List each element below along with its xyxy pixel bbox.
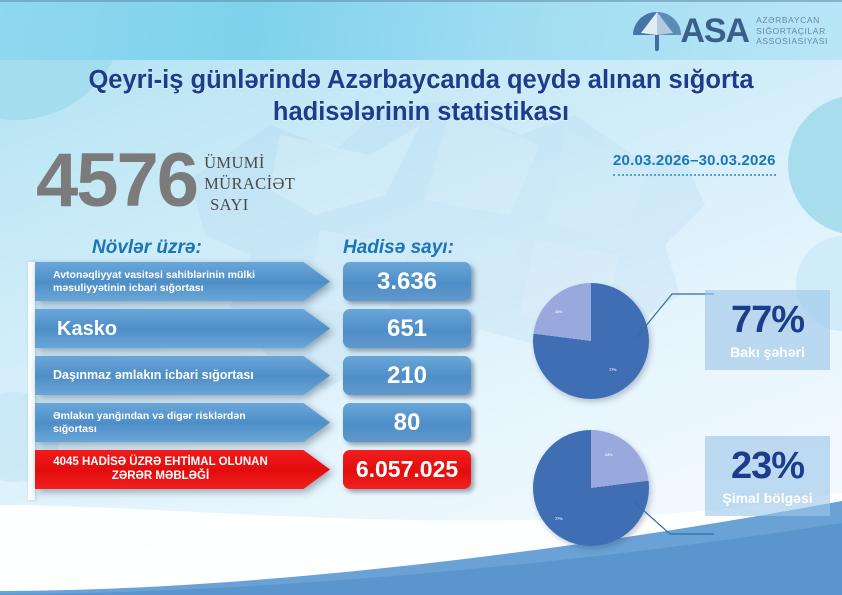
bar-value: 210	[343, 356, 471, 395]
bar-row: Daşınmaz əmlakın icbari sığortası210	[35, 356, 515, 401]
bar-label: 4045 HADİSƏ ÜZRƏ EHTİMAL OLUNAN ZƏRƏR MƏ…	[35, 456, 300, 484]
pie-slice-label-light: 23%	[605, 452, 612, 457]
pie-slice-label-dark: 77%	[555, 516, 562, 521]
total-label-line-1: ÜMUMİ	[204, 152, 295, 173]
bar-row: Avtonəqliyyat vasitəsi sahiblərinin mülk…	[35, 262, 515, 307]
bar-chart-rows: Avtonəqliyyat vasitəsi sahiblərinin mülk…	[35, 262, 515, 497]
callout-name: Şimal bölgəsi	[722, 490, 812, 506]
asa-name-line-1: AZƏRBAYCAN	[756, 15, 828, 26]
page-title: Qeyri-iş günlərində Azərbaycanda qeydə a…	[0, 64, 842, 128]
bar-shape-wrapper: Kasko	[35, 309, 330, 348]
callout-percent: 77%	[731, 301, 804, 339]
leader-line-shimal	[632, 500, 714, 540]
total-summary: 4576 ÜMUMİ MÜRACİƏT SAYI	[36, 146, 295, 216]
asa-logo: ASA AZƏRBAYCAN SIĞORTAÇILAR ASSOSIASIYAS…	[631, 9, 828, 53]
bar-value: 651	[343, 309, 471, 348]
bar-label: Avtonəqliyyat vasitəsi sahiblərinin mülk…	[35, 269, 300, 294]
column-header-types: Növlər üzrə:	[92, 237, 202, 259]
callout-shimal: 23% Şimal bölgəsi	[705, 436, 830, 516]
callout-name: Bakı şəhəri	[730, 344, 805, 360]
bar-label: Kasko	[35, 317, 300, 341]
bar-label: Əmlakın yanğından və digər risklərdən sı…	[35, 410, 300, 435]
pie-chart-baku: 23% 77%	[533, 283, 649, 399]
date-range: 20.03.2026–30.03.2026	[613, 152, 776, 176]
infographic-canvas: ASA AZƏRBAYCAN SIĞORTAÇILAR ASSOSIASIYAS…	[0, 0, 842, 595]
callout-percent: 23%	[731, 447, 804, 485]
bar-shape-wrapper: Daşınmaz əmlakın icbari sığortası	[35, 356, 330, 395]
bar-shape-wrapper: 4045 HADİSƏ ÜZRƏ EHTİMAL OLUNAN ZƏRƏR MƏ…	[35, 450, 330, 489]
callout-baku: 77% Bakı şəhəri	[705, 290, 830, 370]
asa-umbrella-icon	[631, 9, 683, 53]
bar-value: 80	[343, 403, 471, 442]
bar-row: Əmlakın yanğından və digər risklərdən sı…	[35, 403, 515, 448]
bar-value: 3.636	[343, 262, 471, 301]
asa-name-line-2: SIĞORTAÇILAR	[756, 26, 828, 37]
chart-axis-line	[28, 262, 35, 500]
bar-shape-wrapper: Əmlakın yanğından və digər risklərdən sı…	[35, 403, 330, 442]
bar-value: 6.057.025	[343, 450, 471, 489]
column-header-count: Hadisə sayı:	[343, 237, 454, 259]
bar-label: Daşınmaz əmlakın icbari sığortası	[35, 368, 300, 383]
asa-fullname: AZƏRBAYCAN SIĞORTAÇILAR ASSOSIASIYASI	[756, 15, 828, 48]
total-label-line-2: MÜRACİƏT	[204, 173, 295, 194]
asa-name-line-3: ASSOSIASIYASI	[756, 36, 828, 47]
bar-row: 4045 HADİSƏ ÜZRƏ EHTİMAL OLUNAN ZƏRƏR MƏ…	[35, 450, 515, 495]
bar-row: Kasko651	[35, 309, 515, 354]
total-label: ÜMUMİ MÜRACİƏT SAYI	[204, 152, 295, 215]
pie-slice-label-dark: 77%	[609, 367, 616, 372]
asa-acronym: ASA	[680, 16, 749, 47]
total-label-line-3: SAYI	[204, 194, 295, 215]
leader-line-baku	[634, 288, 714, 340]
bar-shape-wrapper: Avtonəqliyyat vasitəsi sahiblərinin mülk…	[35, 262, 330, 301]
pie-slice-label-light: 23%	[555, 309, 562, 314]
total-value: 4576	[36, 146, 197, 216]
